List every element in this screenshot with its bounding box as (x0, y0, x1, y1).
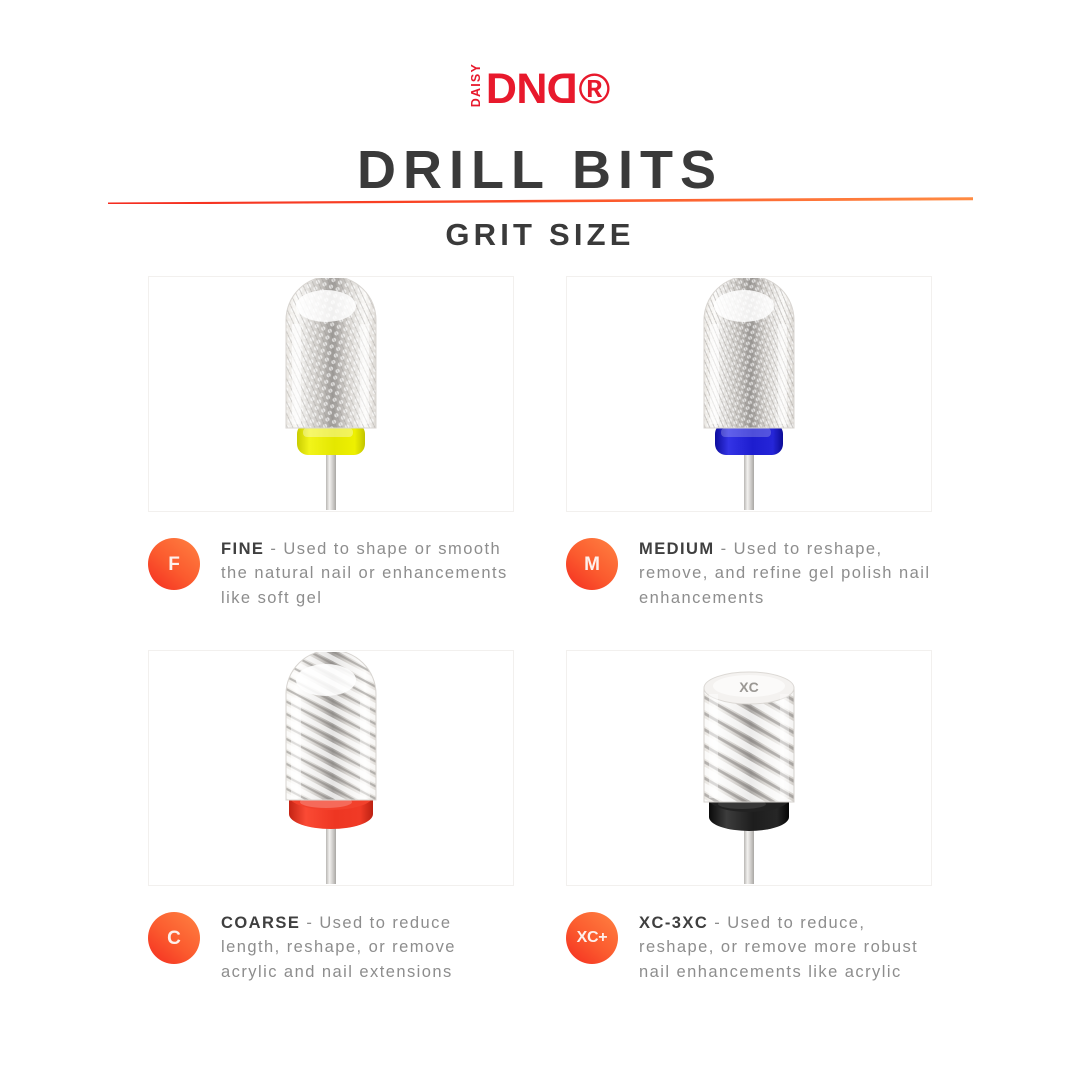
grit-badge-fine: F (148, 538, 200, 590)
bit-photo-fine (148, 276, 514, 512)
bit-photo-medium (566, 276, 932, 512)
separator-medium: - (715, 540, 734, 558)
card-description-medium: M MEDIUM - Used to reshape, remove, and … (566, 536, 932, 610)
grit-name-medium: MEDIUM (639, 540, 715, 558)
brand-dnd-mirrored-d: D (547, 69, 578, 109)
card-xc: XC XC+ XC-3XC - Used to reduce, reshape,… (566, 650, 932, 984)
separator-fine: - (264, 540, 283, 558)
card-coarse: C COARSE - Used to reduce length, reshap… (148, 650, 514, 984)
page-title: DRILL BITS (0, 139, 1080, 201)
brand-dnd-first: DN (486, 69, 547, 109)
grit-badge-medium: M (566, 538, 618, 590)
brand-dnd-wordmark: DND ® (486, 67, 610, 109)
grit-name-xc: XC-3XC (639, 914, 708, 932)
separator-coarse: - (300, 914, 319, 932)
brand-daisy-text: DAISY (470, 63, 483, 107)
card-description-coarse: C COARSE - Used to reduce length, reshap… (148, 910, 514, 984)
separator-xc: - (708, 914, 727, 932)
trademark-symbol: ® (578, 69, 609, 109)
svg-text:XC: XC (739, 679, 758, 695)
description-text-medium: MEDIUM - Used to reshape, remove, and re… (639, 536, 932, 610)
bit-photo-xc: XC (566, 650, 932, 886)
gradient-divider (108, 196, 973, 202)
grit-name-fine: FINE (221, 540, 264, 558)
bit-photo-coarse (148, 650, 514, 886)
brand-logo: DAISY DND ® (0, 63, 1080, 109)
grit-badge-coarse: C (148, 912, 200, 964)
grit-name-coarse: COARSE (221, 914, 300, 932)
page-subtitle: GRIT SIZE (0, 217, 1080, 253)
card-medium: M MEDIUM - Used to reshape, remove, and … (566, 276, 932, 610)
description-text-coarse: COARSE - Used to reduce length, reshape,… (221, 910, 514, 984)
card-description-fine: F FINE - Used to shape or smooth the nat… (148, 536, 514, 610)
description-text-fine: FINE - Used to shape or smooth the natur… (221, 536, 514, 610)
card-fine: F FINE - Used to shape or smooth the nat… (148, 276, 514, 610)
grit-badge-xc: XC+ (566, 912, 618, 964)
drill-bits-infographic: DAISY DND ® DRILL BITS GRIT SIZE (0, 0, 1080, 1080)
description-text-xc: XC-3XC - Used to reduce, reshape, or rem… (639, 910, 932, 984)
card-description-xc: XC+ XC-3XC - Used to reduce, reshape, or… (566, 910, 932, 984)
